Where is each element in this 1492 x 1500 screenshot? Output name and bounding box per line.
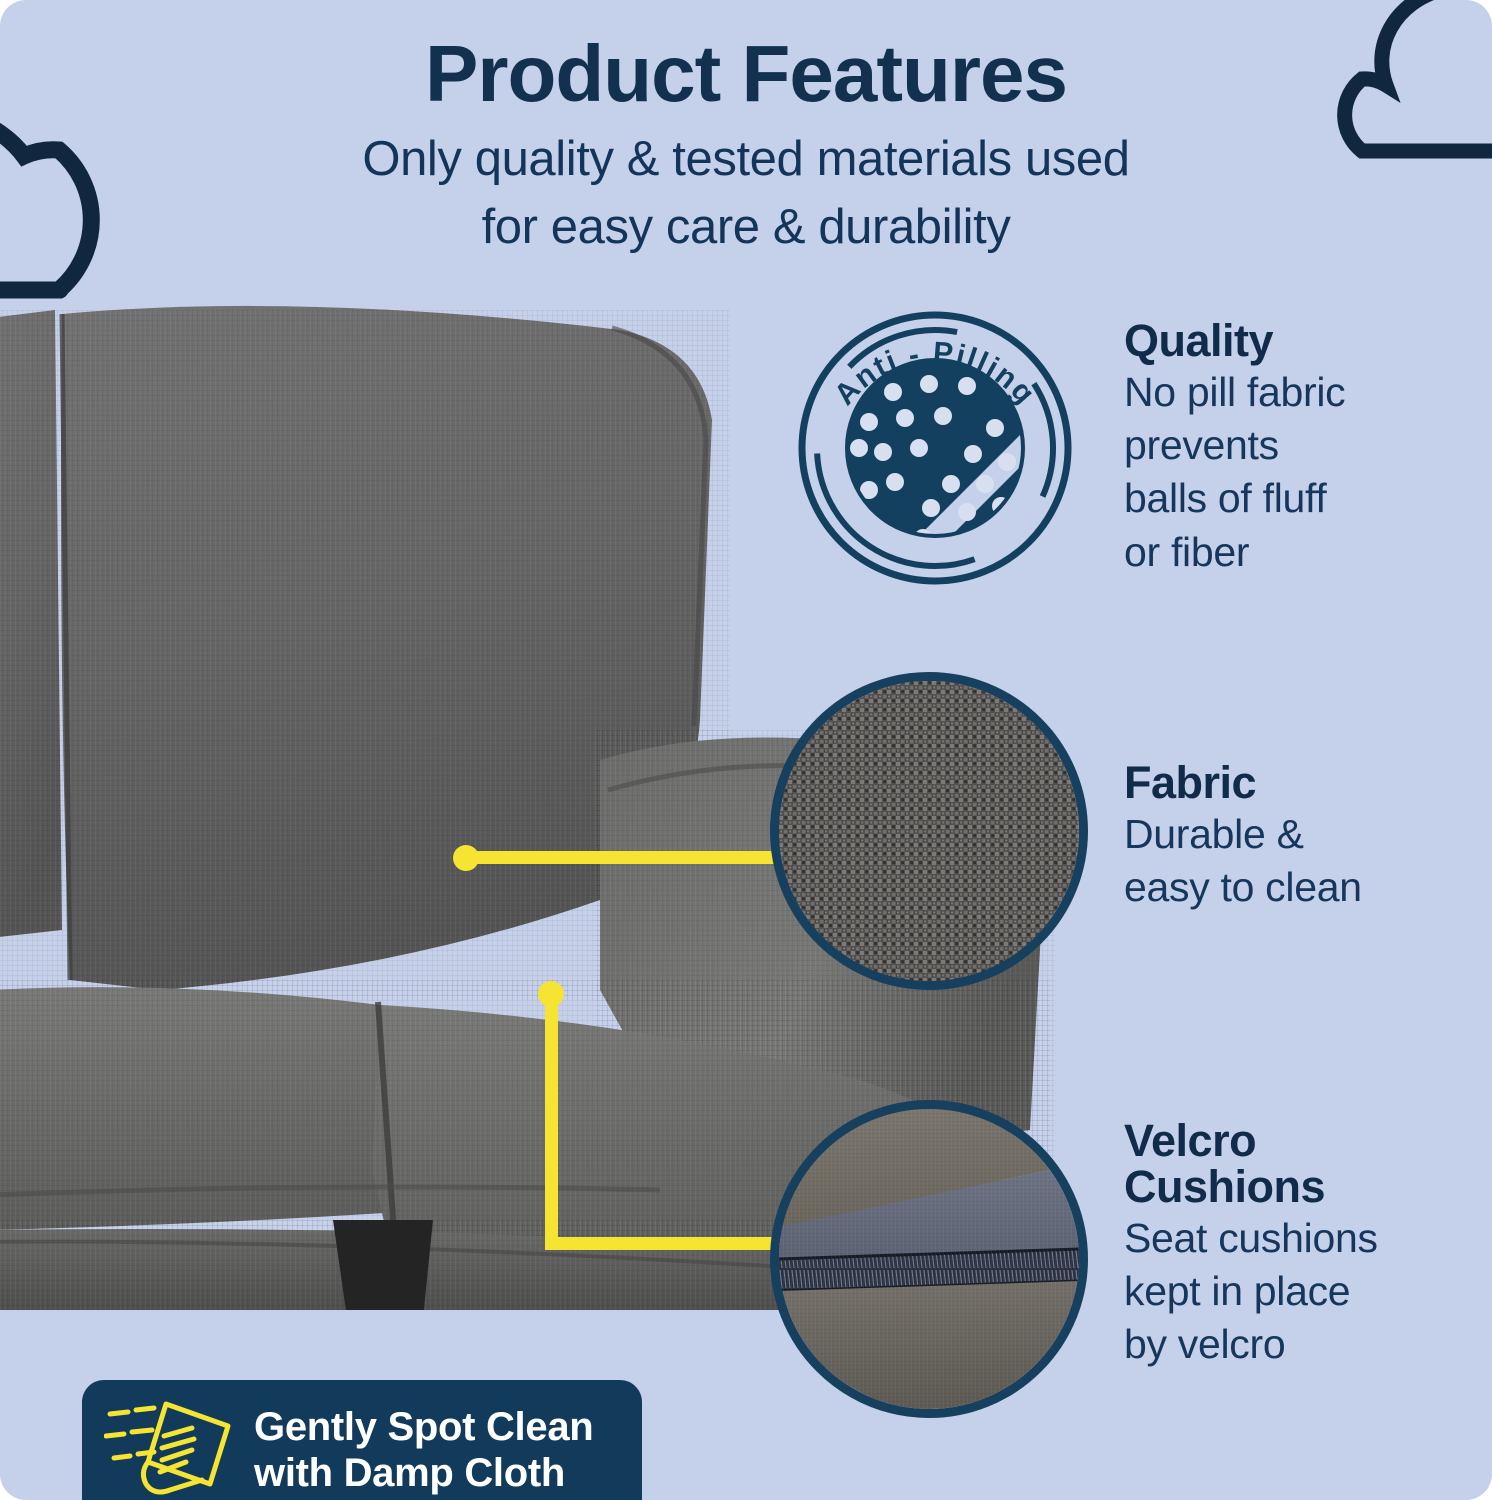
feature-velcro: Velcro Cushions Seat cushions kept in pl… <box>1124 1118 1464 1372</box>
velcro-closeup-circle <box>770 1100 1088 1418</box>
spot-clean-line-2: with Damp Cloth <box>254 1451 565 1495</box>
feature-quality: Quality No pill fabric prevents balls of… <box>1124 318 1454 579</box>
spot-clean-badge: Gently Spot Clean with Damp Cloth <box>82 1380 642 1500</box>
header: Product Features Only quality & tested m… <box>0 0 1492 259</box>
header-subtitle-line2: for easy care & durability <box>0 192 1492 260</box>
feature-quality-body: No pill fabric prevents balls of fluff o… <box>1124 366 1454 579</box>
spot-clean-line-1: Gently Spot Clean <box>254 1405 593 1449</box>
velcro-title-line-2: Cushions <box>1124 1161 1325 1212</box>
velcro-connector-dot <box>538 981 564 1007</box>
fabric-body-line-2: easy to clean <box>1124 864 1362 910</box>
velcro-body-line-3: by velcro <box>1124 1321 1285 1367</box>
hand-wiping-cloth-icon <box>104 1392 240 1500</box>
quality-body-line-1: No pill fabric <box>1124 369 1345 415</box>
anti-pilling-badge: Anti - Pilling <box>795 300 1075 585</box>
feature-fabric: Fabric Durable & easy to clean <box>1124 760 1454 914</box>
sofa-leg <box>325 1220 455 1310</box>
velcro-body-line-2: kept in place <box>1124 1268 1350 1314</box>
fabric-body-line-1: Durable & <box>1124 811 1304 857</box>
quality-body-line-3: balls of fluff <box>1124 475 1326 521</box>
fabric-closeup-circle <box>770 672 1088 990</box>
page-title: Product Features <box>0 0 1492 114</box>
velcro-body-line-1: Seat cushions <box>1124 1215 1378 1261</box>
feature-fabric-title: Fabric <box>1124 760 1454 806</box>
fabric-connector-dot <box>453 845 479 871</box>
velcro-title-line-1: Velcro <box>1124 1115 1256 1166</box>
infographic-canvas: Product Features Only quality & tested m… <box>0 0 1492 1500</box>
feature-fabric-body: Durable & easy to clean <box>1124 808 1454 915</box>
quality-body-line-2: prevents <box>1124 422 1279 468</box>
spot-clean-text: Gently Spot Clean with Damp Cloth <box>254 1404 593 1497</box>
header-subtitle-line1: Only quality & tested materials used <box>0 114 1492 192</box>
feature-quality-title: Quality <box>1124 318 1454 364</box>
feature-velcro-title: Velcro Cushions <box>1124 1118 1464 1210</box>
velcro-connector-vertical <box>545 1000 558 1244</box>
feature-velcro-body: Seat cushions kept in place by velcro <box>1124 1212 1464 1372</box>
quality-body-line-4: or fiber <box>1124 529 1249 575</box>
